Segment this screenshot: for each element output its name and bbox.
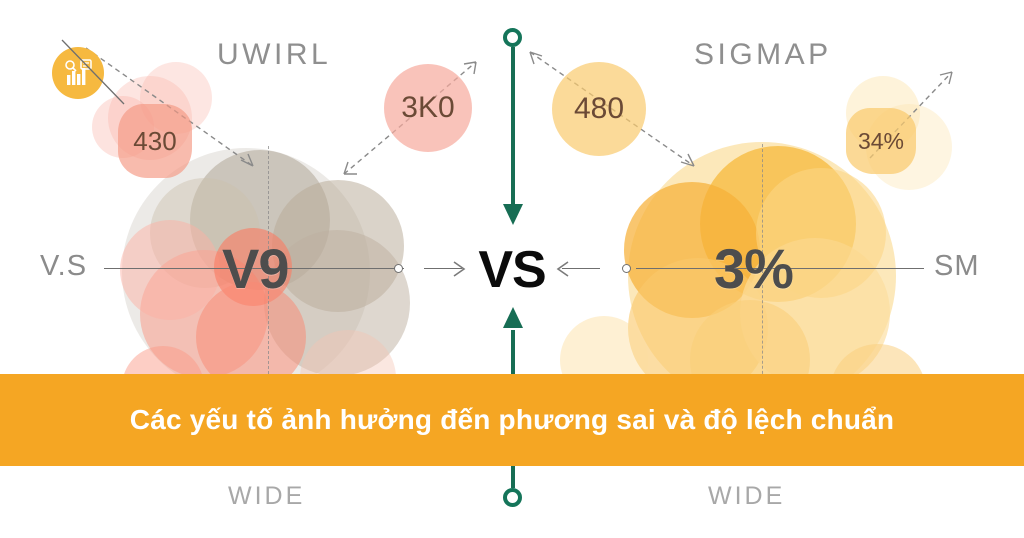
left-inner-arrowhead-icon [424, 258, 466, 280]
right-callout-480: 480 [552, 62, 646, 156]
bubble [272, 180, 404, 312]
left-footer-label: WIDE [228, 482, 305, 511]
right-callout-34: 34% [846, 108, 916, 174]
infographic-canvas: UWIRL SIGMAP V.S V9 3% SM VS 430 3K0 [0, 0, 1024, 538]
analytics-badge[interactable] [52, 47, 104, 99]
bubble [120, 220, 220, 320]
left-big-value: V9 [222, 236, 289, 301]
bar-chart-analytics-icon [61, 56, 95, 90]
vs-label: VS [462, 240, 562, 300]
left-axis-dot [394, 264, 403, 273]
title-banner: Các yếu tố ảnh hưởng đến phương sai và đ… [0, 374, 1024, 466]
right-axis-line-inner [562, 268, 600, 269]
right-big-value: 3% [714, 236, 793, 301]
left-axis-line-inner [424, 268, 462, 269]
bottom-ring-marker [503, 488, 522, 507]
right-inner-arrowhead-icon [556, 258, 598, 280]
top-ring-marker [503, 28, 522, 47]
right-axis-dot [622, 264, 631, 273]
right-heading: SIGMAP [694, 38, 832, 72]
left-callout-3K0: 3K0 [384, 64, 472, 152]
left-heading: UWIRL [217, 38, 331, 72]
top-arrow-stem [511, 47, 515, 207]
left-axis-label: V.S [40, 250, 87, 283]
banner-title: Các yếu tố ảnh hưởng đến phương sai và đ… [130, 404, 894, 436]
right-footer-label: WIDE [708, 482, 785, 511]
arrow-down-icon [503, 198, 523, 226]
left-callout-430: 430 [118, 104, 192, 178]
right-axis-label: SM [934, 250, 980, 283]
